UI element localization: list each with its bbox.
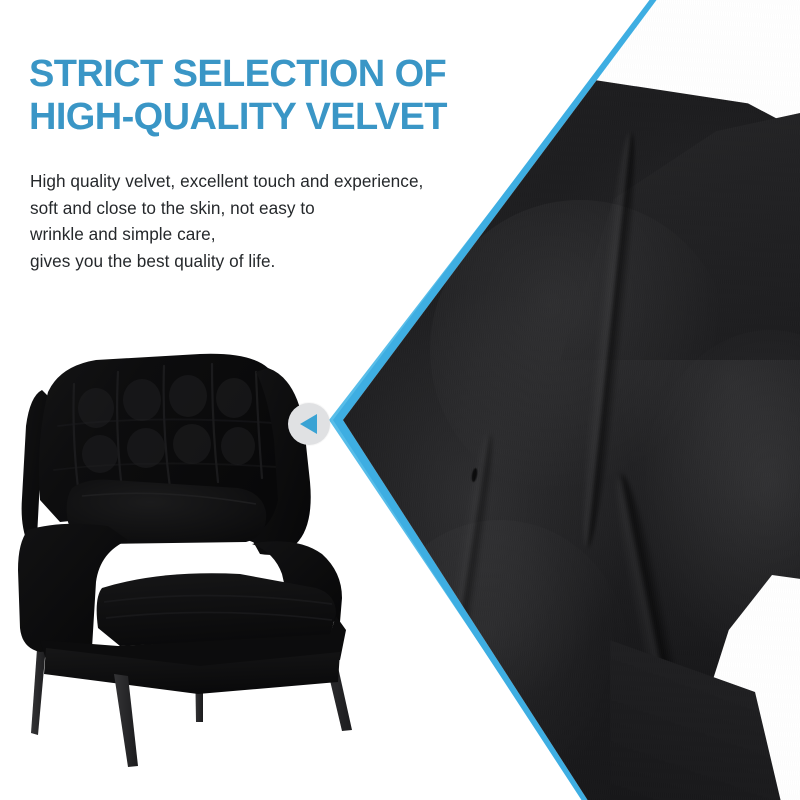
headline: STRICT SELECTION OF HIGH-QUALITY VELVET [29, 53, 549, 139]
chair-front-left-leg [114, 674, 138, 767]
body-copy-line-3: wrinkle and simple care, [30, 221, 510, 248]
body-copy-line-1: High quality velvet, excellent touch and… [30, 168, 510, 195]
triangle-left-icon [300, 414, 317, 434]
zoom-callout-pointer[interactable] [288, 403, 330, 445]
headline-line-2: HIGH-QUALITY VELVET [29, 96, 549, 139]
body-copy-line-2: soft and close to the skin, not easy to [30, 195, 510, 222]
body-copy-line-4: gives you the best quality of life. [30, 248, 510, 275]
product-feature-banner: STRICT SELECTION OF HIGH-QUALITY VELVET … [0, 0, 800, 800]
headline-line-1: STRICT SELECTION OF [29, 53, 549, 96]
product-chair-image [0, 330, 400, 800]
body-copy: High quality velvet, excellent touch and… [30, 168, 510, 274]
